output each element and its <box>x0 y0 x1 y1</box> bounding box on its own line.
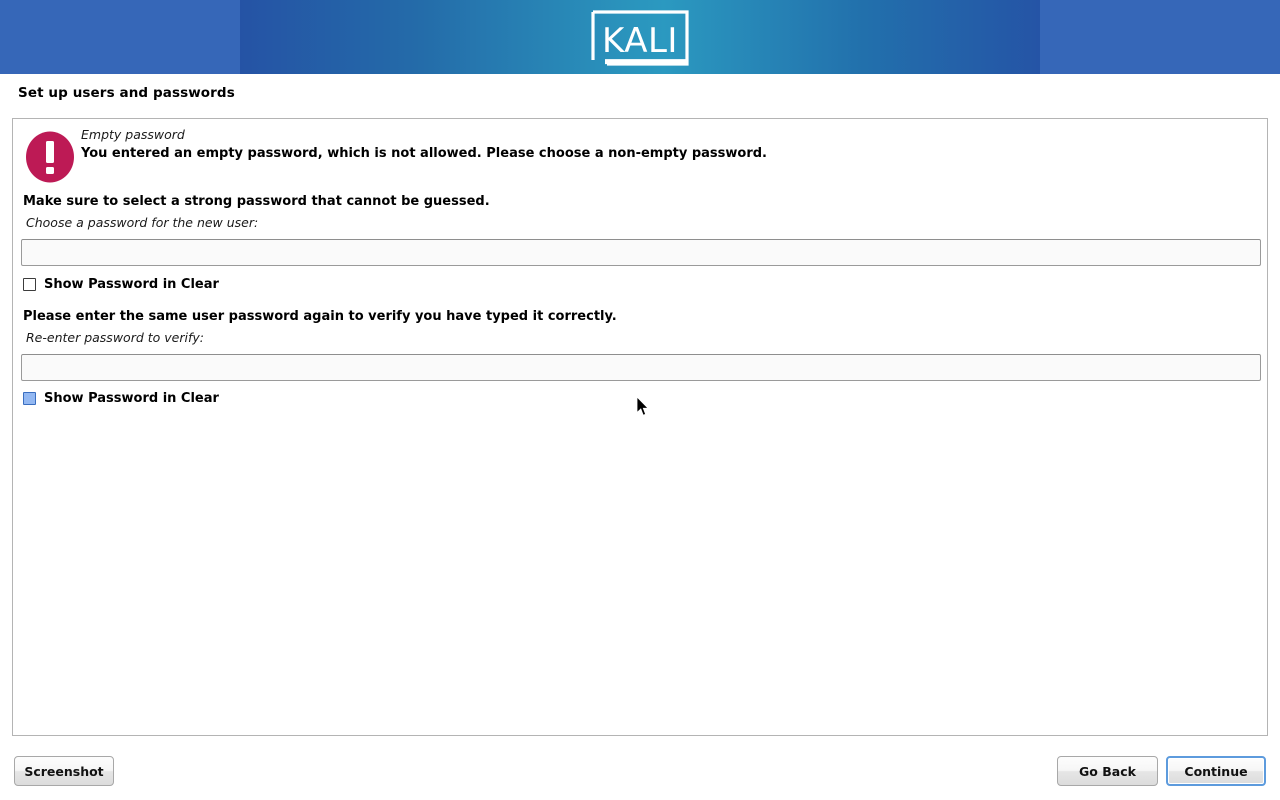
show-password-clear-row-2[interactable]: Show Password in Clear <box>23 391 219 406</box>
password-input[interactable] <box>21 239 1261 266</box>
password-field-label: Choose a password for the new user: <box>26 215 258 230</box>
kali-banner: KALI <box>0 0 1280 74</box>
show-password-clear-row-1[interactable]: Show Password in Clear <box>23 277 219 292</box>
error-description: You entered an empty password, which is … <box>81 146 767 161</box>
kali-logo-icon: KALI <box>583 8 697 68</box>
show-password-label-1: Show Password in Clear <box>44 277 219 292</box>
error-title: Empty password <box>81 127 185 142</box>
show-password-checkbox-2[interactable] <box>23 392 36 405</box>
content-panel: Empty password You entered an empty pass… <box>12 118 1268 736</box>
verify-instruction: Please enter the same user password agai… <box>23 309 617 324</box>
verify-password-input[interactable] <box>21 354 1261 381</box>
continue-button[interactable]: Continue <box>1166 756 1266 786</box>
go-back-button[interactable]: Go Back <box>1057 756 1158 786</box>
page-title: Set up users and passwords <box>18 85 235 101</box>
error-exclamation-icon <box>23 130 77 184</box>
error-message-block: Empty password You entered an empty pass… <box>13 119 1267 191</box>
screenshot-button[interactable]: Screenshot <box>14 756 114 786</box>
password-instruction: Make sure to select a strong password th… <box>23 194 490 209</box>
svg-text:KALI: KALI <box>602 21 678 61</box>
show-password-label-2: Show Password in Clear <box>44 391 219 406</box>
installer-window: KALI Set up users and passwords Empty pa… <box>0 0 1280 800</box>
verify-field-label: Re-enter password to verify: <box>26 330 204 345</box>
show-password-checkbox-1[interactable] <box>23 278 36 291</box>
